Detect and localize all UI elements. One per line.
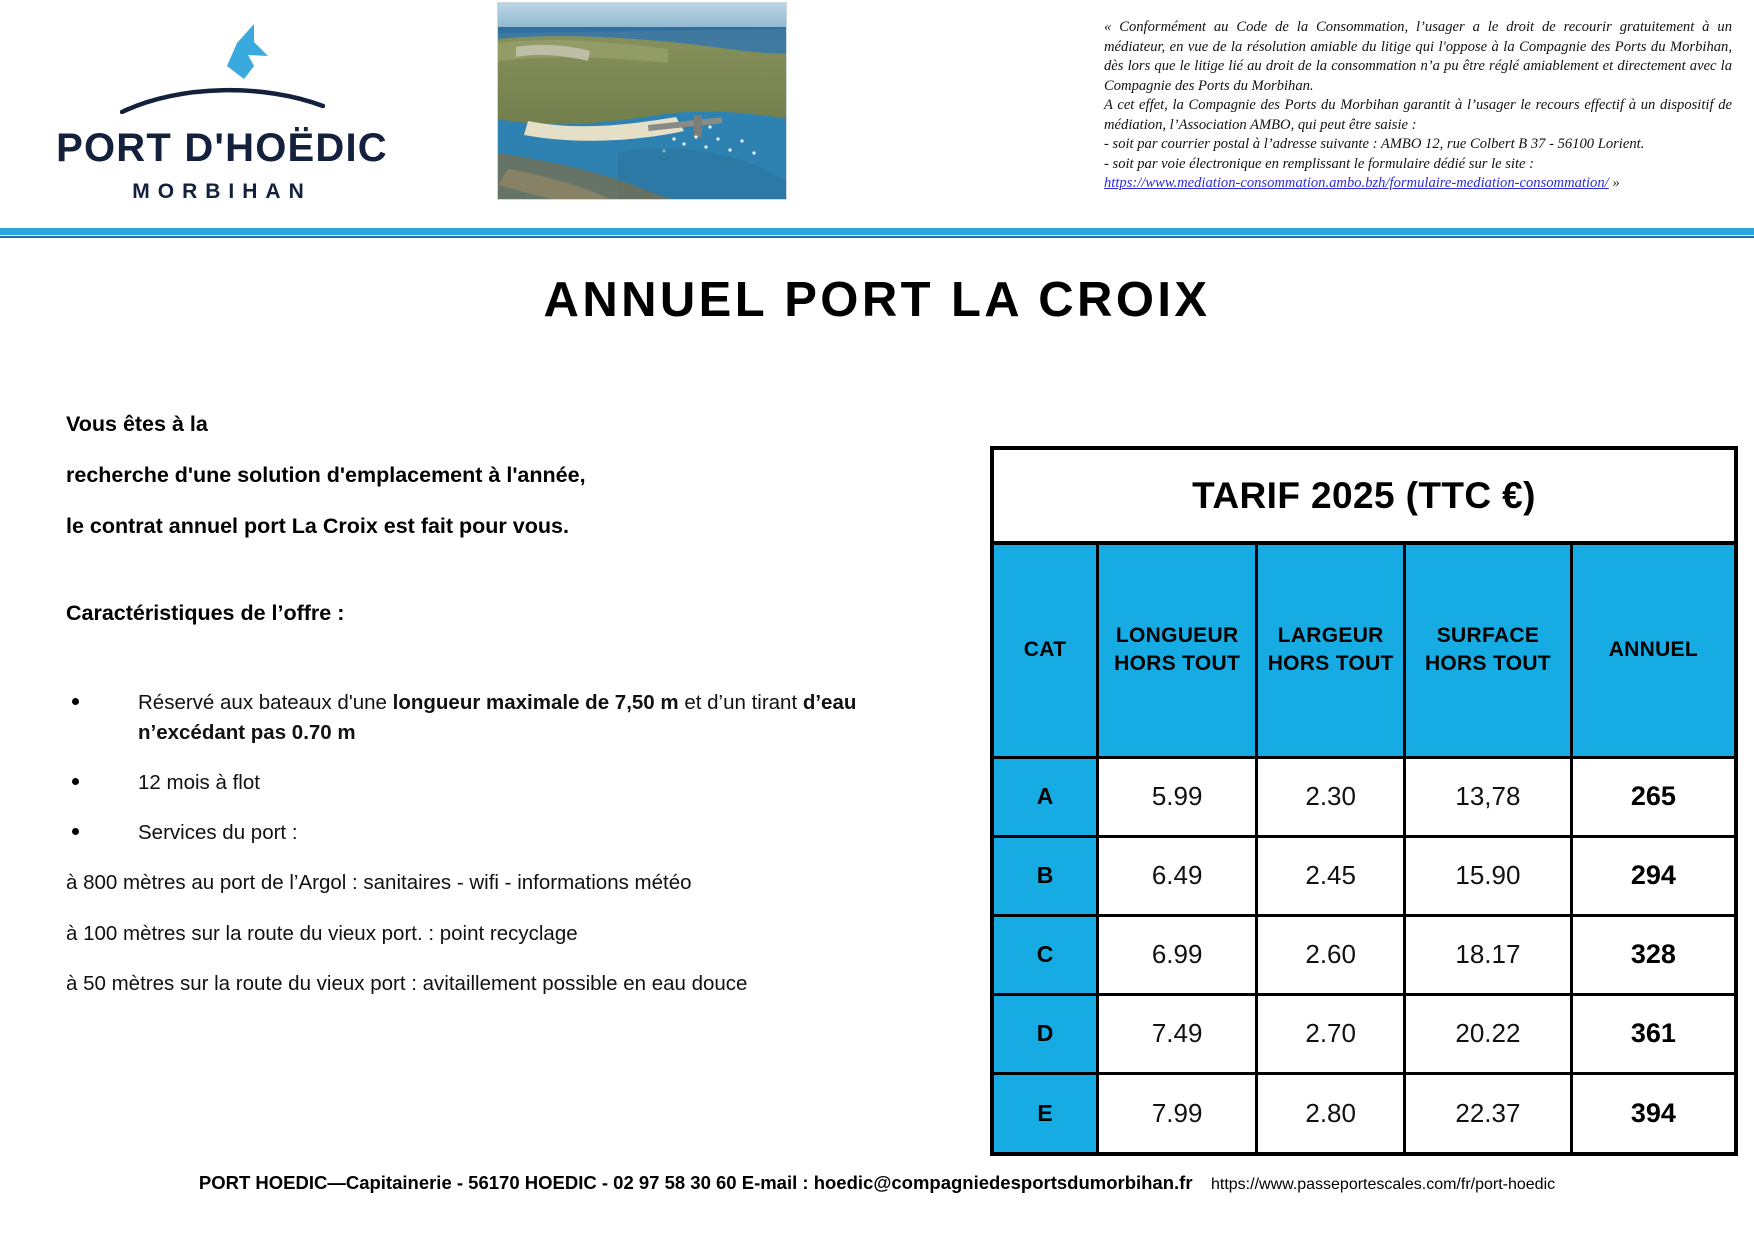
cell-cat: D — [994, 994, 1098, 1073]
footer-url[interactable]: https://www.passeportescales.com/fr/port… — [1211, 1176, 1555, 1194]
bullet-dot-icon — [72, 698, 79, 705]
page-footer: PORT HOEDIC—Capitainerie - 56170 HOEDIC … — [0, 1172, 1754, 1194]
mediation-notice: « Conformément au Code de la Consommatio… — [1104, 18, 1732, 194]
horizon-arc-icon — [120, 86, 325, 114]
offer-description: Vous êtes à la recherche d'une solution … — [66, 412, 946, 1020]
cell-surface: 18.17 — [1405, 915, 1572, 994]
column-header-largeur-line1: LARGEUR — [1258, 622, 1403, 650]
features-list: Réservé aux bateaux d'une longueur maxim… — [66, 688, 946, 846]
list-item: Réservé aux bateaux d'une longueur maxim… — [66, 688, 946, 746]
mediation-paragraph-2: A cet effet, la Compagnie des Ports du M… — [1104, 96, 1732, 135]
cell-annuel: 361 — [1571, 994, 1734, 1073]
table-row: A 5.99 2.30 13,78 265 — [994, 757, 1734, 836]
page-title: ANNUEL PORT LA CROIX — [0, 272, 1754, 328]
table-header-row: CAT LONGUEUR HORS TOUT LARGEUR HORS TOUT… — [994, 545, 1734, 757]
table-row: C 6.99 2.60 18.17 328 — [994, 915, 1734, 994]
table-row: E 7.99 2.80 22.37 394 — [994, 1073, 1734, 1152]
intro-line-2: recherche d'une solution d'emplacement à… — [66, 463, 946, 489]
bullet-dot-icon — [72, 778, 79, 785]
cell-longueur: 7.49 — [1098, 994, 1257, 1073]
mediation-paragraph-3: - soit par courrier postal à l’adresse s… — [1104, 135, 1732, 155]
cell-longueur: 6.49 — [1098, 836, 1257, 915]
column-header-longueur-line1: LONGUEUR — [1099, 622, 1255, 650]
mediation-link[interactable]: https://www.mediation-consommation.ambo.… — [1104, 175, 1609, 191]
service-line: à 100 mètres sur la route du vieux port.… — [66, 919, 946, 949]
column-header-cat: CAT — [994, 545, 1098, 757]
cell-surface: 13,78 — [1405, 757, 1572, 836]
cell-cat: B — [994, 836, 1098, 915]
table-row: B 6.49 2.45 15.90 294 — [994, 836, 1734, 915]
column-header-cat-line1: CAT — [994, 636, 1096, 664]
footer-contact: PORT HOEDIC—Capitainerie - 56170 HOEDIC … — [199, 1172, 1193, 1194]
cell-longueur: 6.99 — [1098, 915, 1257, 994]
tariff-title: TARIF 2025 (TTC €) — [994, 450, 1734, 545]
mediation-closing-quote: » — [1612, 175, 1619, 191]
column-header-longueur-line2: HORS TOUT — [1099, 650, 1255, 678]
list-item-text: Services du port : — [138, 821, 298, 844]
list-item-text: 12 mois à flot — [138, 771, 260, 794]
list-item: Services du port : — [66, 818, 946, 847]
cell-largeur: 2.30 — [1257, 757, 1405, 836]
column-header-largeur: LARGEUR HORS TOUT — [1257, 545, 1405, 757]
column-header-longueur: LONGUEUR HORS TOUT — [1098, 545, 1257, 757]
service-line: à 50 mètres sur la route du vieux port :… — [66, 969, 946, 999]
document-page: PORT D'HOËDIC MORBIHAN — [0, 0, 1754, 1240]
features-heading: Caractéristiques de l’offre : — [66, 601, 946, 626]
column-header-surface-line1: SURFACE — [1406, 622, 1570, 650]
mediation-paragraph-1: « Conformément au Code de la Consommatio… — [1104, 18, 1732, 96]
sail-flag-icon — [210, 24, 280, 92]
aerial-photo — [497, 2, 787, 200]
tariff-grid: CAT LONGUEUR HORS TOUT LARGEUR HORS TOUT… — [994, 545, 1734, 1152]
mediation-paragraph-4: - soit par voie électronique en rempliss… — [1104, 155, 1732, 175]
cell-cat: E — [994, 1073, 1098, 1152]
intro-line-1: Vous êtes à la — [66, 412, 946, 438]
logo-name: PORT D'HOËDIC — [42, 128, 402, 168]
service-line: à 800 mètres au port de l’Argol : sanita… — [66, 868, 946, 898]
cell-surface: 15.90 — [1405, 836, 1572, 915]
list-item: 12 mois à flot — [66, 768, 946, 797]
tariff-table: TARIF 2025 (TTC €) CAT LONGUEUR HORS TOU… — [990, 446, 1738, 1156]
port-hoedic-logo: PORT D'HOËDIC MORBIHAN — [42, 18, 402, 198]
column-header-annuel-line1: ANNUEL — [1573, 636, 1734, 664]
column-header-surface-line2: HORS TOUT — [1406, 650, 1570, 678]
cell-annuel: 294 — [1571, 836, 1734, 915]
header-divider-thin — [0, 236, 1754, 238]
list-item-text: Réservé aux bateaux d'une longueur maxim… — [138, 691, 856, 743]
table-row: D 7.49 2.70 20.22 361 — [994, 994, 1734, 1073]
cell-annuel: 394 — [1571, 1073, 1734, 1152]
cell-longueur: 7.99 — [1098, 1073, 1257, 1152]
cell-largeur: 2.45 — [1257, 836, 1405, 915]
column-header-annuel: ANNUEL — [1571, 545, 1734, 757]
cell-largeur: 2.60 — [1257, 915, 1405, 994]
logo-subtitle: MORBIHAN — [42, 180, 402, 204]
cell-longueur: 5.99 — [1098, 757, 1257, 836]
page-header: PORT D'HOËDIC MORBIHAN — [0, 0, 1754, 236]
column-header-surface: SURFACE HORS TOUT — [1405, 545, 1572, 757]
header-divider-thick — [0, 228, 1754, 235]
intro-line-3: le contrat annuel port La Croix est fait… — [66, 514, 946, 540]
cell-annuel: 265 — [1571, 757, 1734, 836]
mediation-link-line: https://www.mediation-consommation.ambo.… — [1104, 174, 1732, 194]
services-list: à 800 mètres au port de l’Argol : sanita… — [66, 868, 946, 999]
cell-annuel: 328 — [1571, 915, 1734, 994]
bullet-dot-icon — [72, 828, 79, 835]
logo-mark — [42, 18, 402, 126]
cell-surface: 20.22 — [1405, 994, 1572, 1073]
cell-surface: 22.37 — [1405, 1073, 1572, 1152]
cell-largeur: 2.80 — [1257, 1073, 1405, 1152]
tariff-body: A 5.99 2.30 13,78 265 B 6.49 2.45 15.90 … — [994, 757, 1734, 1152]
cell-cat: A — [994, 757, 1098, 836]
cell-cat: C — [994, 915, 1098, 994]
column-header-largeur-line2: HORS TOUT — [1258, 650, 1403, 678]
cell-largeur: 2.70 — [1257, 994, 1405, 1073]
